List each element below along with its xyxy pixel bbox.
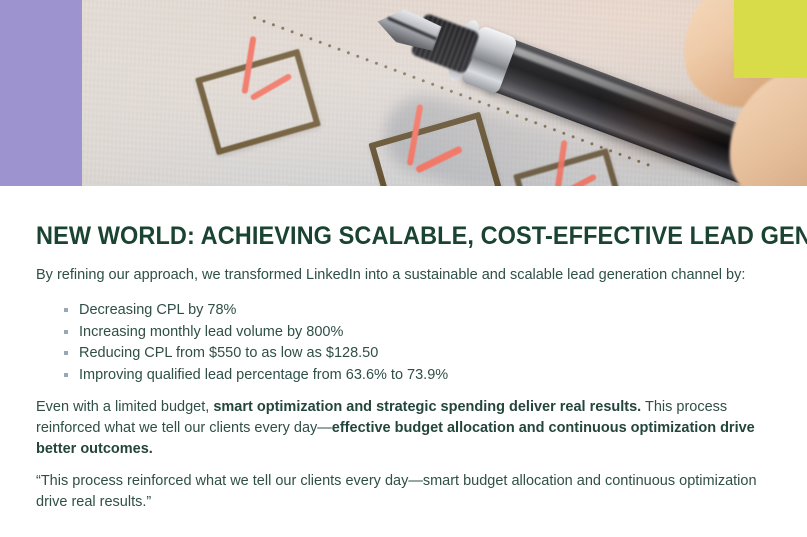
content-area: NEW WORLD: ACHIEVING SCALABLE, COST-EFFE… xyxy=(0,186,807,537)
hero-photo xyxy=(82,0,807,186)
slide-page: NEW WORLD: ACHIEVING SCALABLE, COST-EFFE… xyxy=(0,0,807,537)
hero-banner xyxy=(0,0,807,186)
client-quote-paragraph: “This process reinforced what we tell ou… xyxy=(36,471,770,513)
intro-paragraph: By refining our approach, we transformed… xyxy=(36,266,766,285)
list-item: Improving qualified lead percentage from… xyxy=(62,366,762,384)
list-item: Decreasing CPL by 78% xyxy=(62,301,762,319)
emphasis-paragraph: Even with a limited budget, smart optimi… xyxy=(36,397,770,460)
yellow-accent-square xyxy=(734,0,807,78)
list-item: Reducing CPL from $550 to as low as $128… xyxy=(62,344,762,362)
emphasis-text-part-1: Even with a limited budget, xyxy=(36,399,213,415)
photo-vignette xyxy=(82,0,807,186)
emphasis-bold-1: smart optimization and strategic spendin… xyxy=(213,399,641,415)
page-title: NEW WORLD: ACHIEVING SCALABLE, COST-EFFE… xyxy=(36,221,807,251)
list-item: Increasing monthly lead volume by 800% xyxy=(62,323,762,341)
purple-accent-bar xyxy=(0,0,82,186)
results-bullet-list: Decreasing CPL by 78% Increasing monthly… xyxy=(62,301,762,387)
